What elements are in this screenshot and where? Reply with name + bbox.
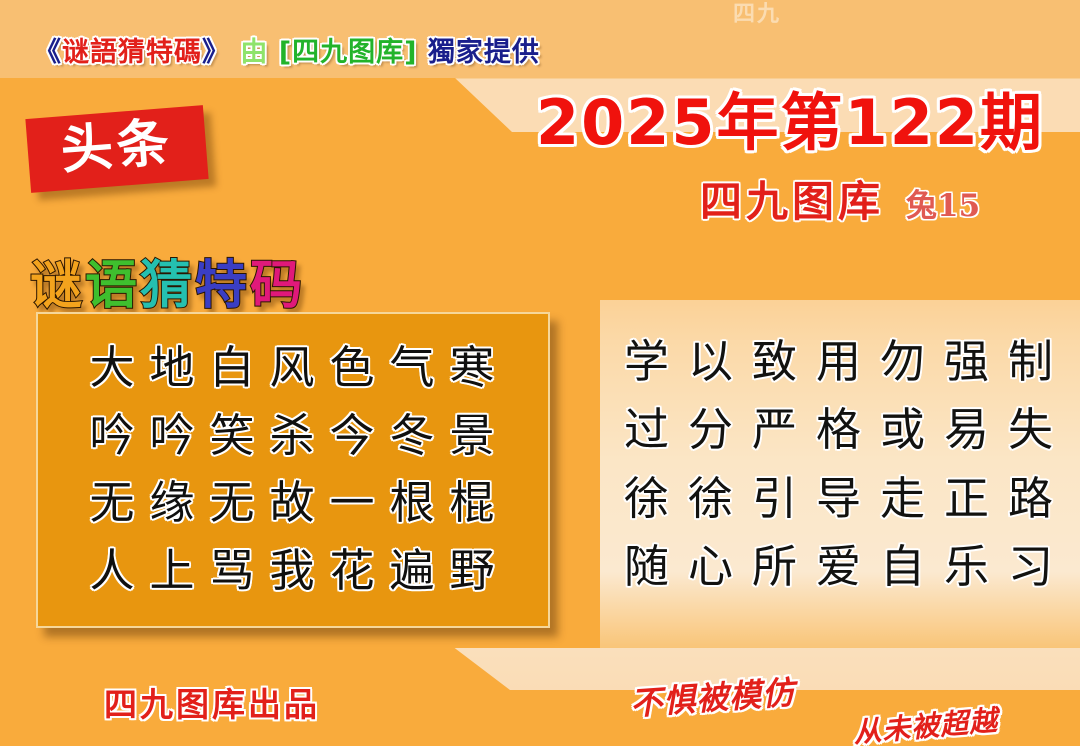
poem-line: 随心所爱自乐习	[606, 533, 1072, 601]
glyph-cell: 棍	[443, 469, 503, 537]
headline-badge-label: 头条	[59, 117, 175, 178]
glyph-cell: 徐	[679, 465, 743, 533]
glyph-cell: 过	[615, 396, 679, 464]
glyph-cell: 气	[383, 334, 443, 402]
glyph-cell: 分	[679, 396, 743, 464]
zodiac-badge: 兔15	[906, 180, 980, 229]
glyph-cell: 或	[871, 396, 935, 464]
glyph-cell: 制	[999, 328, 1063, 396]
glyph-cell: 今	[323, 402, 383, 470]
glyph-cell: 骂	[203, 537, 263, 605]
glyph-cell: 一	[323, 469, 383, 537]
glyph-cell: 遍	[383, 537, 443, 605]
poem-line: 过分严格或易失	[606, 396, 1072, 464]
glyph-cell: 走	[871, 465, 935, 533]
header-attribution: 《谜語猜特碼》 由 [四九图库] 獨家提供	[34, 30, 540, 69]
poster-root: 四九 《谜語猜特碼》 由 [四九图库] 獨家提供 头条 2025年第122期 四…	[0, 0, 1080, 746]
header-bracket-open: 《	[34, 37, 62, 68]
glyph-cell: 随	[615, 533, 679, 601]
section-title-rainbow: 谜语猜特码	[30, 243, 305, 318]
issue-title: 2025年第122期	[536, 72, 1056, 162]
poem-line: 徐徐引导走正路	[606, 465, 1072, 533]
glyph-cell: 失	[999, 396, 1063, 464]
section-title-char-5: 码	[250, 256, 305, 316]
glyph-cell: 风	[263, 334, 323, 402]
glyph-cell: 花	[323, 537, 383, 605]
poem-line: 学以致用勿强制	[606, 328, 1072, 396]
glyph-cell: 致	[743, 328, 807, 396]
riddle-line: 人上骂我花遍野	[52, 537, 534, 605]
header-sqbracket-close: ]	[404, 37, 417, 68]
glyph-cell: 野	[443, 537, 503, 605]
footer-brand: 四九图库出品	[104, 678, 320, 726]
glyph-cell: 根	[383, 469, 443, 537]
glyph-cell: 杀	[263, 402, 323, 470]
glyph-cell: 缘	[143, 469, 203, 537]
riddle-line: 吟吟笑杀今冬景	[52, 402, 534, 470]
watermark-text: 四九	[722, 2, 792, 28]
riddle-line: 大地白风色气寒	[52, 334, 534, 402]
glyph-cell: 白	[203, 334, 263, 402]
glyph-cell: 用	[807, 328, 871, 396]
glyph-cell: 导	[807, 465, 871, 533]
riddle-line: 无缘无故一根棍	[52, 469, 534, 537]
glyph-cell: 徐	[615, 465, 679, 533]
section-title-char-2: 语	[85, 256, 140, 316]
glyph-cell: 心	[679, 533, 743, 601]
glyph-cell: 笑	[203, 402, 263, 470]
glyph-cell: 路	[999, 465, 1063, 533]
glyph-cell: 我	[263, 537, 323, 605]
header-exclusive-text: 獨家提供	[418, 37, 540, 68]
glyph-cell: 强	[935, 328, 999, 396]
glyph-cell: 学	[615, 328, 679, 396]
glyph-cell: 正	[935, 465, 999, 533]
section-title-char-4: 特	[195, 256, 250, 316]
glyph-cell: 冬	[383, 402, 443, 470]
brand-name: 四九图库	[700, 168, 884, 229]
poem-block: 学以致用勿强制 过分严格或易失 徐徐引导走正路 随心所爱自乐习	[606, 328, 1072, 602]
glyph-cell: 故	[263, 469, 323, 537]
glyph-cell: 以	[679, 328, 743, 396]
glyph-cell: 习	[999, 533, 1063, 601]
glyph-cell: 严	[743, 396, 807, 464]
brand-row: 四九图库 兔15	[700, 168, 980, 229]
headline-badge[interactable]: 头条	[25, 105, 208, 193]
glyph-cell: 所	[743, 533, 807, 601]
glyph-cell: 色	[323, 334, 383, 402]
header-bracket-close: 》	[202, 37, 230, 68]
glyph-cell: 乐	[935, 533, 999, 601]
glyph-cell: 地	[143, 334, 203, 402]
riddle-box: 大地白风色气寒 吟吟笑杀今冬景 无缘无故一根棍 人上骂我花遍野	[36, 312, 550, 628]
header-sqbracket-open: [	[279, 37, 292, 68]
glyph-cell: 上	[143, 537, 203, 605]
glyph-cell: 格	[807, 396, 871, 464]
glyph-cell: 爱	[807, 533, 871, 601]
glyph-cell: 人	[83, 537, 143, 605]
header-title-text: 谜語猜特碼	[62, 37, 202, 68]
glyph-cell: 易	[935, 396, 999, 464]
glyph-cell: 无	[83, 469, 143, 537]
glyph-cell: 引	[743, 465, 807, 533]
section-title-char-3: 猜	[140, 256, 195, 316]
glyph-cell: 无	[203, 469, 263, 537]
glyph-cell: 寒	[443, 334, 503, 402]
glyph-cell: 吟	[143, 402, 203, 470]
section-title-char-1: 谜	[30, 256, 85, 316]
header-brand-text: 四九图库	[292, 37, 404, 68]
glyph-cell: 勿	[871, 328, 935, 396]
glyph-cell: 吟	[83, 402, 143, 470]
header-by-text: 由	[230, 37, 279, 68]
glyph-cell: 大	[83, 334, 143, 402]
glyph-cell: 景	[443, 402, 503, 470]
glyph-cell: 自	[871, 533, 935, 601]
